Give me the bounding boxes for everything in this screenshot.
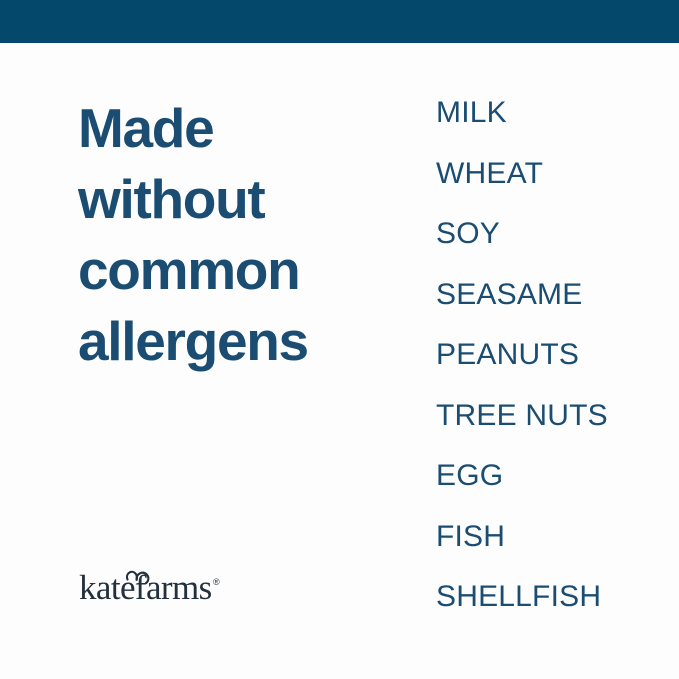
top-navy-band (0, 0, 679, 43)
brand-logo: katefarms ® (79, 563, 239, 611)
list-item: MILK (436, 93, 666, 154)
list-item: TREE NUTS (436, 396, 666, 457)
allergen-info-card: Made without common allergens MILK WHEAT… (0, 0, 679, 679)
page-title: Made without common allergens (78, 93, 408, 377)
list-item: SOY (436, 214, 666, 275)
list-item: EGG (436, 456, 666, 517)
registered-trademark-icon: ® (213, 577, 220, 587)
list-item: SHELLFISH (436, 577, 666, 638)
allergen-list: MILK WHEAT SOY SEASAME PEANUTS TREE NUTS… (436, 93, 666, 638)
list-item: WHEAT (436, 154, 666, 215)
list-item: FISH (436, 517, 666, 578)
logo-wordmark: katefarms ® (79, 568, 220, 607)
list-item: PEANUTS (436, 335, 666, 396)
list-item: SEASAME (436, 275, 666, 336)
logo-wordmark-text: katefarms (79, 568, 212, 607)
card-content: Made without common allergens MILK WHEAT… (0, 43, 679, 679)
